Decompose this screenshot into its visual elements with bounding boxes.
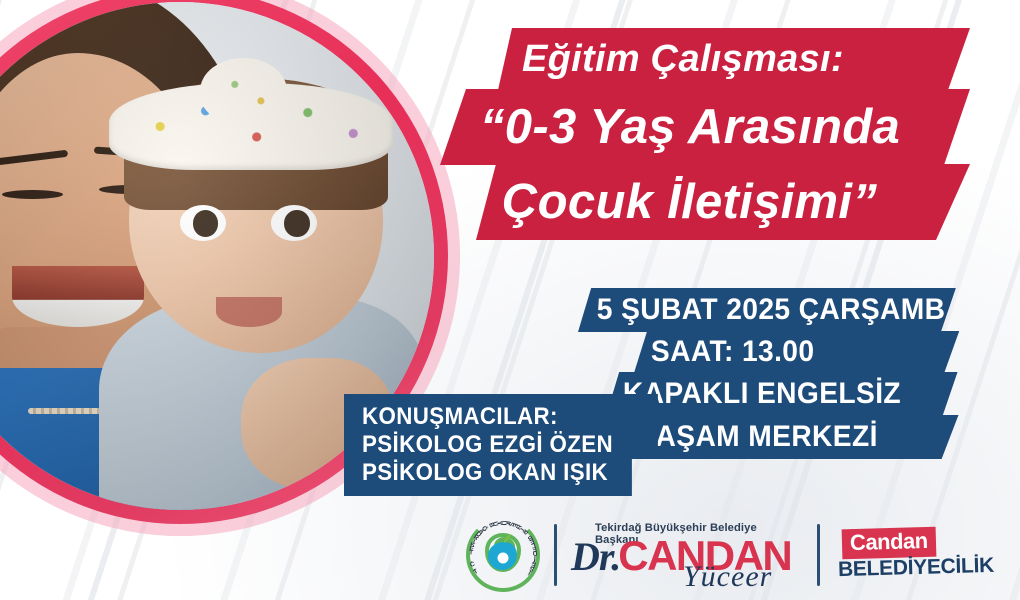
title-line-1: Eğitim Çalışması: [498, 28, 970, 90]
footer-divider-left [554, 524, 557, 586]
mayor-signature-logo: Tekirdağ Büyükşehir Belediye Başkanı Dr.… [571, 518, 803, 592]
seal-emblem-icon [481, 532, 525, 578]
title-banner-group: Eğitim Çalışması: “0-3 Yaş Arasında Çocu… [440, 28, 970, 240]
badge-bottom-text: BELEDİYECİLİK [838, 554, 995, 582]
event-venue-line-1: KAPAKLI ENGELSİZ [606, 372, 958, 416]
speaker-1: PSİKOLOG EZGİ ÖZEN [362, 431, 613, 459]
candan-belediyecilik-badge: Candan BELEDİYECİLİK [838, 526, 954, 584]
mayor-prefix: Dr. [571, 533, 620, 580]
municipality-seal-icon: T.C. TEKİRDAĞ BÜYÜKŞEHİR BELEDİYESİ [466, 518, 540, 592]
speakers-block: KONUŞMACILAR: PSİKOLOG EZGİ ÖZEN PSİKOLO… [344, 394, 658, 496]
event-time: SAAT: 13.00 [634, 331, 959, 373]
footer-logo-bar: T.C. TEKİRDAĞ BÜYÜKŞEHİR BELEDİYESİ Teki… [466, 518, 954, 592]
speakers-heading: KONUŞMACILAR: [362, 403, 613, 431]
event-date: 5 ŞUBAT 2025 ÇARŞAMBA [578, 288, 956, 332]
footer-divider-right [817, 524, 820, 586]
title-line-3: Çocuk İletişimi” [476, 164, 970, 240]
event-poster: Eğitim Çalışması: “0-3 Yaş Arasında Çocu… [0, 0, 1020, 600]
mayor-surname: Yüceer [683, 560, 772, 594]
title-line-2: “0-3 Yaş Arasında [440, 89, 970, 165]
badge-top-text: Candan [842, 527, 936, 560]
event-venue-line-2: YAŞAM MERKEZİ [622, 415, 959, 459]
speaker-2: PSİKOLOG OKAN IŞIK [362, 459, 613, 487]
